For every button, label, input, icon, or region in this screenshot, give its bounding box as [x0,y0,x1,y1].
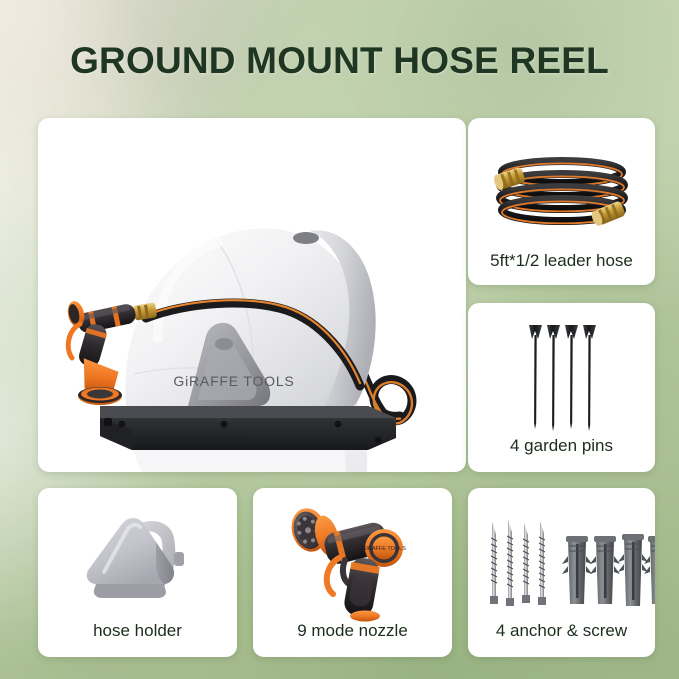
screw [538,521,546,605]
garden-pin [565,325,578,429]
trigger-guard [68,324,80,358]
infographic-stage: GROUND MOUNT HOSE REEL [0,0,679,679]
nozzle-caption: 9 mode nozzle [253,621,452,641]
garden-pin [529,325,542,429]
wall-anchor [562,536,592,604]
card-main-product[interactable]: GiRAFFE TOOLS [38,118,466,472]
nozzle-illustration: GIRAFFE TOOLS [253,496,452,622]
hose-holder-caption: hose holder [38,621,237,641]
page-title: GROUND MOUNT HOSE REEL [0,40,679,82]
hose-holder-illustration [38,498,237,624]
inlet-collar [350,611,380,622]
holder-tab [174,552,184,566]
anchor-screw-caption: 4 anchor & screw [468,621,655,641]
wall-anchor [590,536,620,604]
leader-hose-illustration [468,136,655,256]
screw [506,520,514,606]
garden-pins-caption: 4 garden pins [468,436,655,456]
screw [522,523,530,603]
card-nozzle[interactable]: GIRAFFE TOOLS 9 mode nozzle [253,488,452,657]
nozzle-brand-text: GIRAFFE TOOLS [362,546,406,552]
card-leader-hose[interactable]: 5ft*1/2 leader hose [468,118,655,285]
wall-anchor [618,534,648,606]
top-cap [293,232,319,244]
garden-pin [583,325,596,431]
ground-mount-base [100,406,396,450]
card-hose-holder[interactable]: hose holder [38,488,237,657]
brand-text: GiRAFFE TOOLS [173,373,294,389]
leader-hose-caption: 5ft*1/2 leader hose [468,251,655,271]
nozzle-handle [342,556,381,618]
garden-pins-illustration [468,317,655,442]
screw [490,522,498,604]
nozzle-spray-head [78,358,122,405]
card-garden-pins[interactable]: 4 garden pins [468,303,655,472]
card-anchor-screw[interactable]: 4 anchor & screw [468,488,655,657]
hose-reel-illustration: GiRAFFE TOOLS [38,118,466,472]
trigger [343,560,349,584]
anchor-screw-illustration [468,500,655,626]
garden-pin [547,325,560,431]
